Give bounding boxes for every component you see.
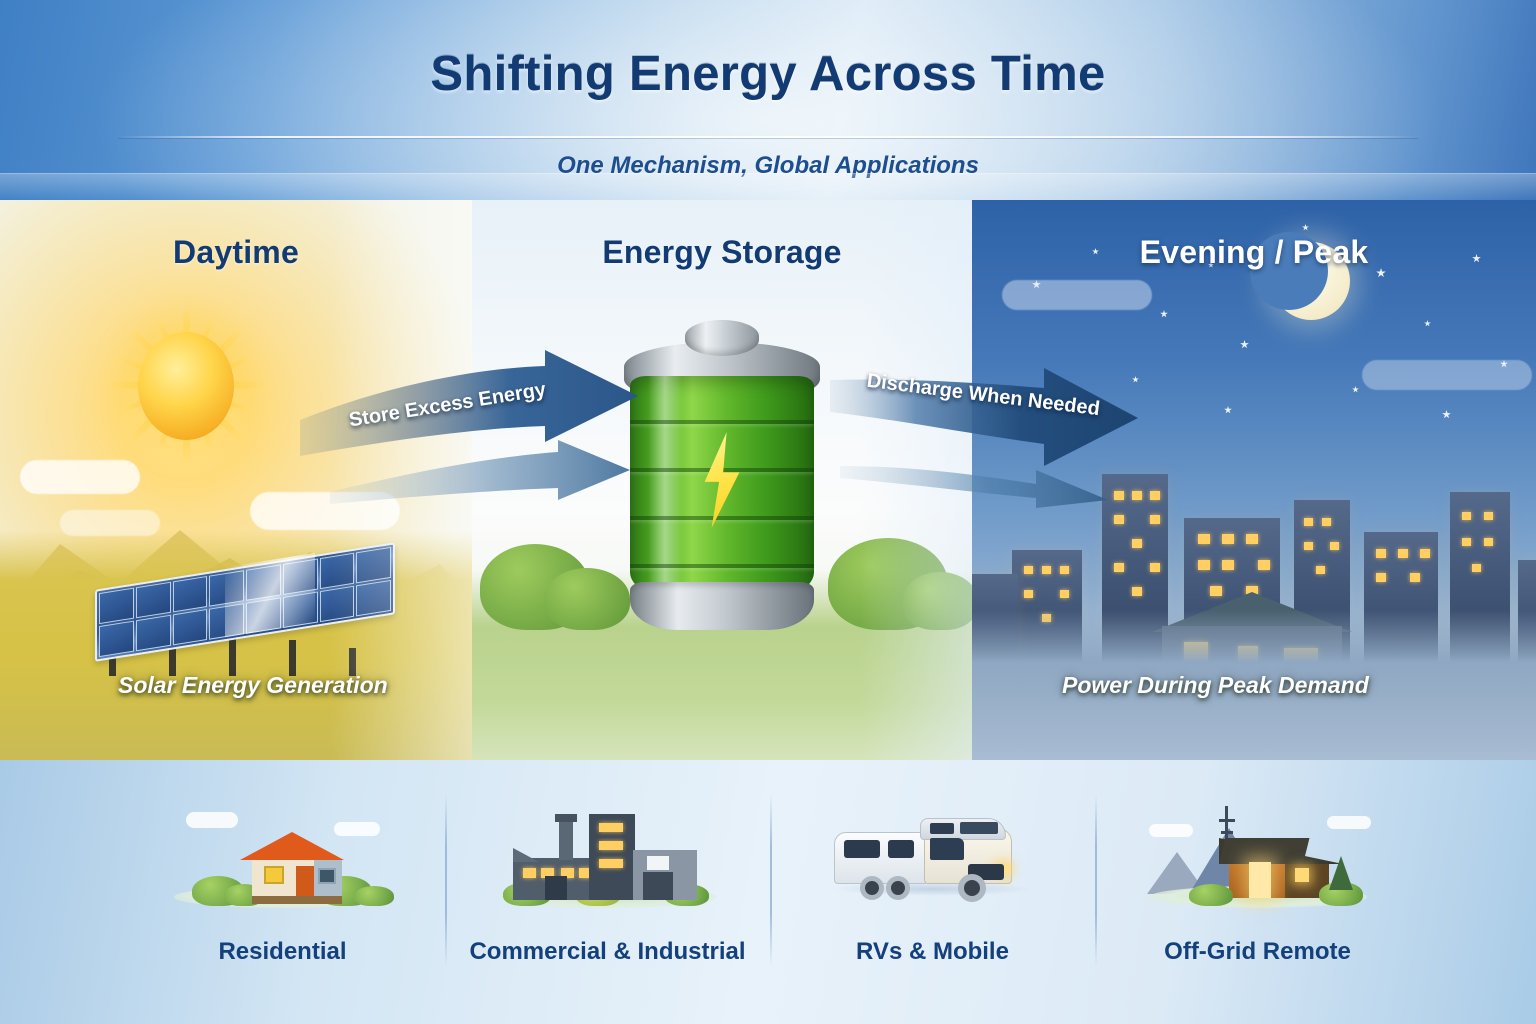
caption-solar-energy-generation: Solar Energy Generation xyxy=(118,672,388,699)
cloud-icon xyxy=(60,510,160,536)
process-band: Daytime xyxy=(0,200,1536,760)
application-label-residential: Residential xyxy=(218,938,346,966)
factory-icon xyxy=(483,796,733,914)
application-label-commercial-industrial: Commercial & Industrial xyxy=(469,938,745,966)
cloud-icon xyxy=(1362,360,1532,390)
page-title: Shifting Energy Across Time xyxy=(0,46,1536,102)
panel-heading-energy-storage: Energy Storage xyxy=(472,234,972,271)
cabin-icon xyxy=(1133,796,1383,914)
cloud-icon xyxy=(250,492,400,530)
panel-energy-storage: Energy Storage xyxy=(472,200,972,760)
application-label-rvs-mobile: RVs & Mobile xyxy=(856,938,1009,966)
header-banner: Shifting Energy Across Time One Mechanis… xyxy=(0,0,1536,200)
rv-motorhome-icon xyxy=(808,796,1058,914)
caption-power-during-peak-demand: Power During Peak Demand xyxy=(1062,672,1369,699)
application-card-commercial-industrial[interactable]: Commercial & Industrial xyxy=(445,776,770,991)
battery-icon xyxy=(624,320,820,630)
application-card-off-grid-remote[interactable]: Off-Grid Remote xyxy=(1095,776,1420,991)
page-subtitle: One Mechanism, Global Applications xyxy=(0,152,1536,180)
house-icon xyxy=(158,796,408,914)
applications-footer: Residential xyxy=(0,760,1536,1024)
cloud-icon xyxy=(1002,280,1152,310)
panel-heading-evening-peak: Evening / Peak xyxy=(972,234,1536,271)
sun-icon xyxy=(110,310,260,460)
application-card-rvs-mobile[interactable]: RVs & Mobile xyxy=(770,776,1095,991)
infographic-canvas: Shifting Energy Across Time One Mechanis… xyxy=(0,0,1536,1024)
solar-panel-array-icon xyxy=(95,566,395,676)
panel-heading-daytime: Daytime xyxy=(0,234,472,271)
application-label-off-grid-remote: Off-Grid Remote xyxy=(1164,938,1351,966)
cloud-icon xyxy=(20,460,140,494)
application-card-list: Residential xyxy=(120,776,1420,991)
header-divider xyxy=(118,136,1418,138)
application-card-residential[interactable]: Residential xyxy=(120,776,445,991)
